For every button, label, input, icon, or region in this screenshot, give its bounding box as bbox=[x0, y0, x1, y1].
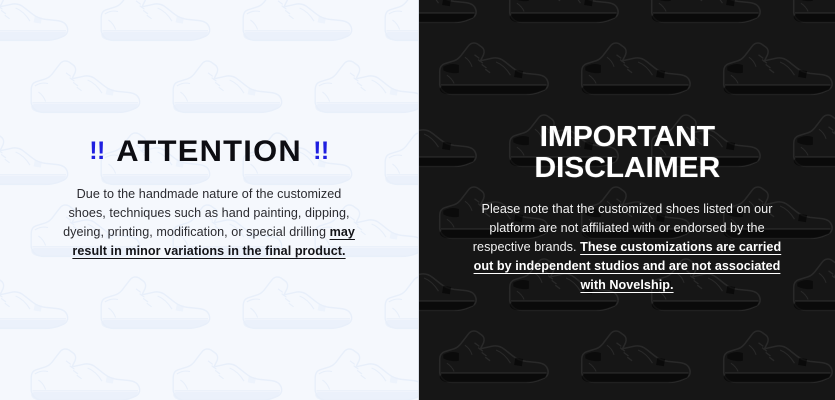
double-exclamation-left-icon: !! bbox=[89, 139, 105, 164]
double-exclamation-right-icon: !! bbox=[313, 139, 329, 164]
disclaimer-body: Please note that the customized shoes li… bbox=[467, 200, 787, 295]
disclaimer-heading: IMPORTANT DISCLAIMER bbox=[534, 122, 720, 184]
attention-panel: !! ATTENTION !! Due to the handmade natu… bbox=[0, 0, 418, 400]
disclaimer-title-line-2: DISCLAIMER bbox=[534, 153, 720, 184]
attention-heading: !! ATTENTION !! bbox=[89, 137, 329, 167]
attention-body-normal: Due to the handmade nature of the custom… bbox=[63, 187, 350, 239]
disclaimer-content: IMPORTANT DISCLAIMER Please note that th… bbox=[419, 0, 835, 400]
disclaimer-title-line-1: IMPORTANT bbox=[534, 122, 720, 153]
attention-body: Due to the handmade nature of the custom… bbox=[59, 185, 359, 261]
attention-content: !! ATTENTION !! Due to the handmade natu… bbox=[0, 0, 418, 400]
customization-notice-banner: !! ATTENTION !! Due to the handmade natu… bbox=[0, 0, 835, 400]
attention-title: ATTENTION bbox=[116, 137, 302, 167]
disclaimer-panel: IMPORTANT DISCLAIMER Please note that th… bbox=[418, 0, 835, 400]
